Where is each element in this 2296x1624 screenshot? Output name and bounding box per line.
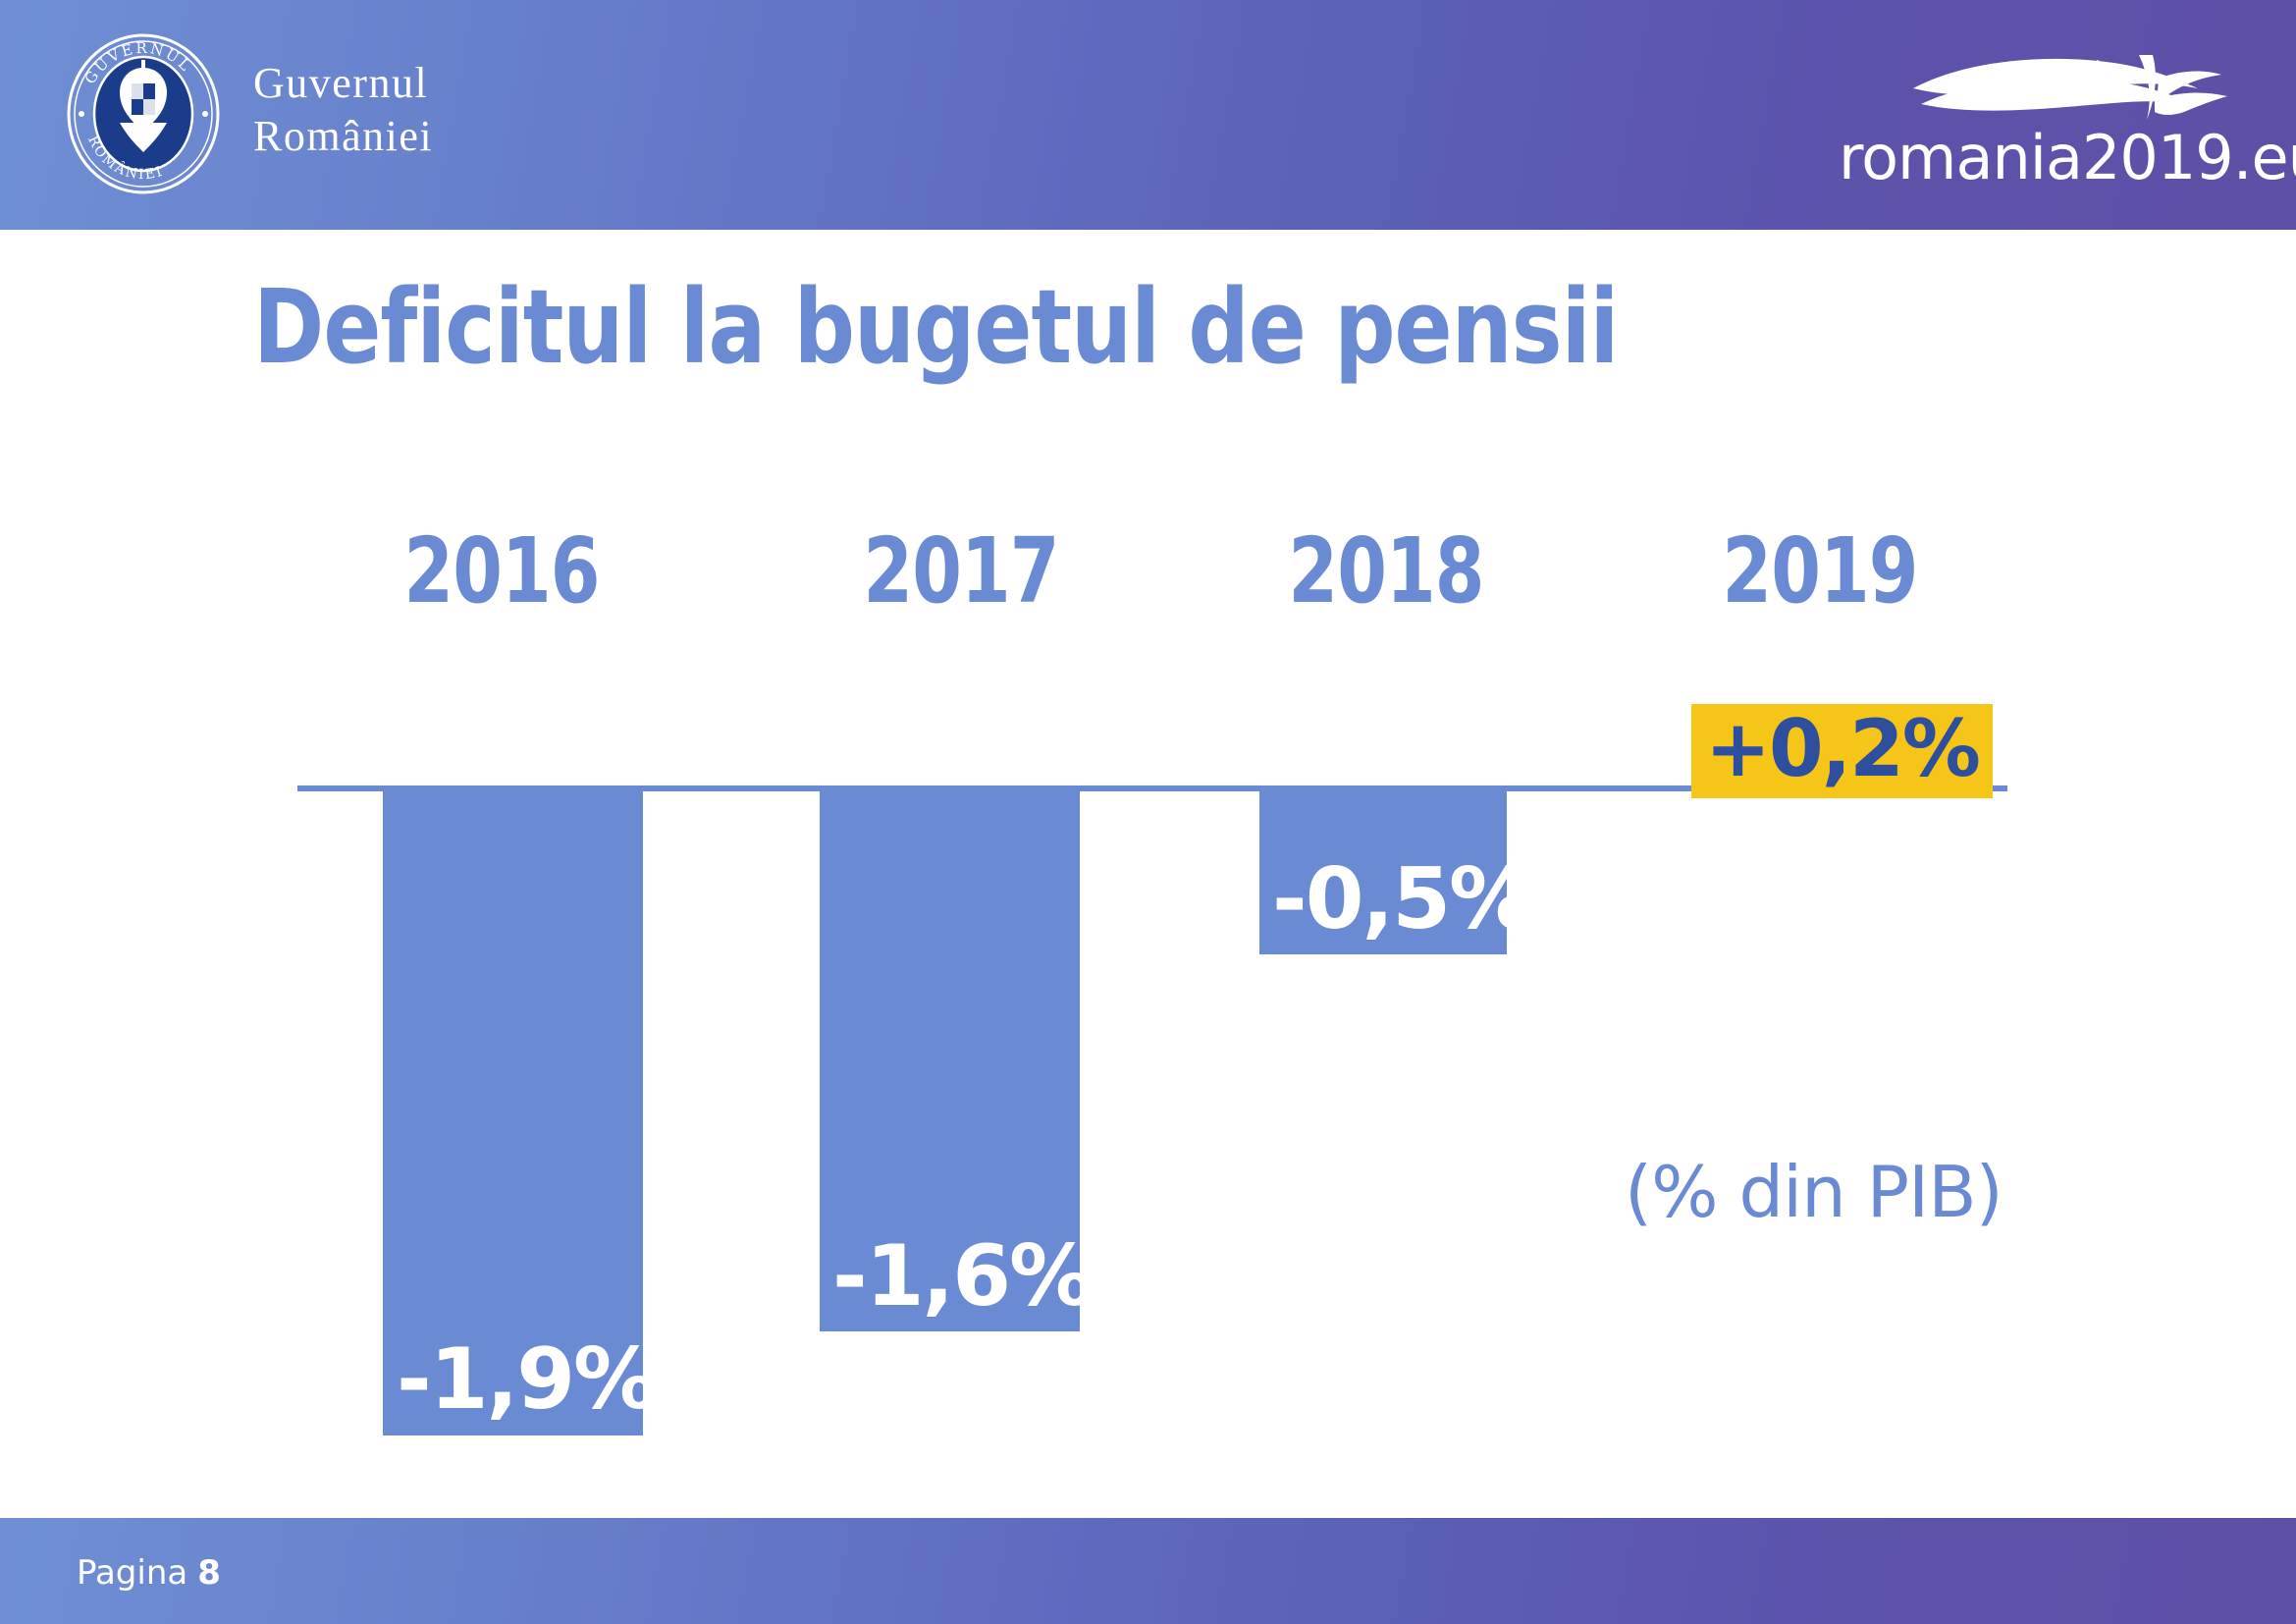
slide: GUVERNUL ROMÂNIEI Guvernul României bbox=[0, 0, 2296, 1624]
x-axis-label-2019: 2019 bbox=[1695, 518, 1944, 623]
bar-chart: 2016 2017 2018 2019 -1,9% -1,6% -0,5% +0… bbox=[0, 0, 2296, 1624]
bar-value-label-2019: +0,2% bbox=[1691, 704, 1993, 798]
chart-unit-note: (% din PIB) bbox=[1625, 1151, 2002, 1233]
footer-band bbox=[0, 1518, 2296, 1624]
page-indicator-label: Pagina bbox=[77, 1553, 187, 1593]
bar-value-label-2016: -1,9% bbox=[397, 1330, 656, 1429]
page-indicator-number: 8 bbox=[197, 1553, 221, 1593]
page-indicator: Pagina8 bbox=[77, 1553, 221, 1593]
bar-value-label-2018: -0,5% bbox=[1272, 850, 1531, 948]
x-axis-label-2017: 2017 bbox=[836, 518, 1085, 623]
bar-value-label-2017: -1,6% bbox=[832, 1227, 1092, 1326]
x-axis-label-2018: 2018 bbox=[1261, 518, 1510, 623]
x-axis-label-2016: 2016 bbox=[377, 518, 625, 623]
